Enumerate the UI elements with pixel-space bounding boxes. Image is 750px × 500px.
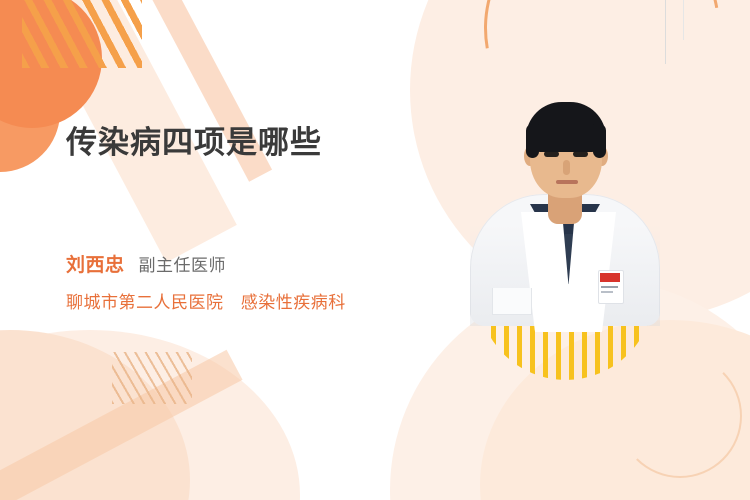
doctor-job-title: 副主任医师 — [139, 251, 227, 276]
bottom-left-peach-wash-shape — [0, 330, 300, 500]
doctor-affiliation: 聊城市第二人民医院 感染性疾病科 — [66, 288, 346, 313]
top-left-circle-1 — [0, 0, 102, 128]
nose — [563, 160, 570, 175]
doctor-byline: 刘西忠 副主任医师 — [66, 250, 226, 277]
coat-pocket — [492, 288, 532, 315]
hospital-name: 聊城市第二人民医院 — [66, 293, 224, 312]
bottom-left-band-shape — [0, 350, 243, 500]
chest-badge-line-2 — [601, 291, 613, 293]
mouth — [556, 180, 578, 184]
page-title: 传染病四项是哪些 — [66, 117, 322, 162]
doctor-portrait — [464, 74, 664, 364]
department-name: 感染性疾病科 — [241, 293, 346, 312]
top-left-stripes-shape — [22, 0, 142, 68]
top-right-line-2 — [683, 0, 684, 40]
doctor-info-card: 传染病四项是哪些 刘西忠 副主任医师 聊城市第二人民医院 感染性疾病科 — [0, 0, 750, 500]
top-left-circle-2 — [0, 52, 60, 172]
chest-badge-line-1 — [601, 286, 618, 288]
bottom-left-peach-wash-shape-2 — [0, 330, 190, 500]
top-right-line-1 — [665, 0, 666, 64]
bottom-right-arc-icon — [618, 354, 742, 478]
chest-badge-header — [600, 273, 620, 282]
doctor-name: 刘西忠 — [66, 250, 125, 277]
hair-side-right — [593, 124, 606, 158]
hair-side-left — [526, 124, 539, 158]
bottom-left-stripes-shape — [112, 352, 192, 404]
